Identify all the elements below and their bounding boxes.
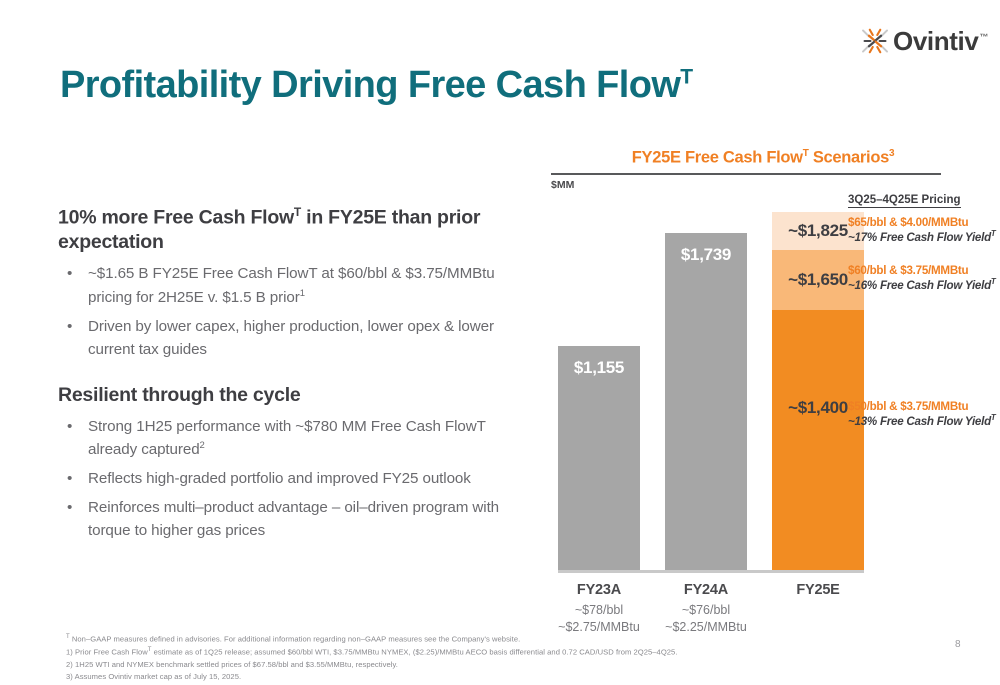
section-heading-1-dagger: T [294, 205, 301, 219]
annotation-yield-1650: ~16% Free Cash Flow YieldT [848, 277, 1000, 292]
footnote-1-rest: estimate as of 1Q25 release; assumed $60… [151, 647, 677, 656]
list-item: • Reinforces multi–product advantage – o… [58, 496, 528, 542]
footnote-2-text: 1H25 WTI and NYMEX benchmark settled pri… [73, 660, 398, 669]
left-content-column: 10% more Free Cash FlowT in FY25E than p… [58, 205, 528, 548]
footnote-3: 3) Assumes Ovintiv market cap as of July… [66, 671, 766, 683]
x-axis-sublabel-fy24a-oil: ~$76/bbl [657, 602, 755, 619]
list-item: • Strong 1H25 performance with ~$780 MM … [58, 415, 528, 461]
bullet-dot-icon: • [67, 467, 72, 490]
bullet-list-2: • Strong 1H25 performance with ~$780 MM … [58, 415, 528, 542]
list-item-pre: Reflects high-graded portfolio and impro… [88, 470, 471, 487]
annotation-yield-1400-dagger: T [991, 413, 996, 422]
x-axis-sublabel-fy23a-oil: ~$78/bbl [550, 602, 648, 619]
annotation-scenario-1825: $65/bbl & $4.00/MMBtu ~17% Free Cash Flo… [848, 216, 1000, 244]
annotation-scenario-1650: $60/bbl & $3.75/MMBtu ~16% Free Cash Flo… [848, 264, 1000, 292]
ovintiv-wordmark: Ovintiv™ [893, 28, 988, 54]
bar-fy23a: $1,155 [558, 346, 640, 570]
list-item-pre: Reinforces multi–product advantage – oil… [88, 499, 499, 539]
chart-baseline-axis [558, 570, 864, 573]
bullet-dot-icon: • [67, 315, 72, 338]
annotation-yield-1650-dagger: T [991, 277, 996, 286]
chart-plot-area: $1,155 $1,739 ~$1,825 ~$1,650 ~$1,400 [540, 148, 1000, 638]
list-item-pre: ~$1.65 B FY25E Free Cash Flow [88, 265, 308, 282]
bullet-dot-icon: • [67, 415, 72, 438]
list-item-dagger: T [308, 265, 317, 282]
list-item-footnote-ref: 1 [300, 287, 305, 298]
footnote-dagger-text: Non–GAAP measures defined in advisories.… [70, 635, 521, 644]
annotation-yield-1400-text: ~13% Free Cash Flow Yield [848, 415, 991, 428]
list-item-footnote-ref: 2 [200, 440, 205, 451]
x-axis-label-fy25e: FY25E [769, 582, 867, 598]
annotation-yield-1825-text: ~17% Free Cash Flow Yield [848, 231, 991, 244]
annotation-yield-1400: ~13% Free Cash Flow YieldT [848, 413, 1000, 428]
x-axis-label-fy23a: FY23A ~$78/bbl ~$2.75/MMBtu [550, 582, 648, 636]
list-item: • Reflects high-graded portfolio and imp… [58, 467, 528, 490]
footnote-2: 2) 1H25 WTI and NYMEX benchmark settled … [66, 659, 766, 671]
trademark-symbol: ™ [979, 32, 988, 42]
ovintiv-wordmark-text: Ovintiv [893, 26, 978, 56]
footnotes: T Non–GAAP measures defined in advisorie… [66, 633, 766, 683]
ovintiv-logo: Ovintiv™ [860, 20, 988, 62]
page-number: 8 [955, 639, 961, 650]
x-axis-category-fy24a: FY24A [657, 582, 755, 598]
footnote-1-marker: 1) [66, 647, 73, 656]
annotation-yield-1650-text: ~16% Free Cash Flow Yield [848, 279, 991, 292]
annotation-yield-1825-dagger: T [991, 229, 996, 238]
bar-segment-fy25e-1400: ~$1,400 [772, 310, 864, 570]
bullet-list-1: • ~$1.65 B FY25E Free Cash FlowT at $60/… [58, 262, 528, 360]
annotation-price-1650: $60/bbl & $3.75/MMBtu [848, 264, 1000, 277]
annotation-price-1400: $50/bbl & $3.75/MMBtu [848, 400, 1000, 413]
x-axis-category-fy23a: FY23A [550, 582, 648, 598]
page-title-text: Profitability Driving Free Cash Flow [60, 64, 680, 106]
list-item: • ~$1.65 B FY25E Free Cash FlowT at $60/… [58, 262, 528, 308]
list-item-mid: already captured [88, 441, 200, 458]
footnote-3-marker: 3) [66, 672, 73, 681]
slide: Ovintiv™ Profitability Driving Free Cash… [0, 0, 1000, 685]
bullet-dot-icon: • [67, 496, 72, 519]
section-heading-1-pre: 10% more Free Cash Flow [58, 207, 294, 229]
section-heading-2: Resilient through the cycle [58, 383, 528, 408]
list-item: • Driven by lower capex, higher producti… [58, 315, 528, 361]
bar-value-fy23a: $1,155 [558, 358, 640, 378]
footnote-2-marker: 2) [66, 660, 73, 669]
list-item-pre: Driven by lower capex, higher production… [88, 318, 494, 358]
x-axis-label-fy24a: FY24A ~$76/bbl ~$2.25/MMBtu [657, 582, 755, 636]
bullet-dot-icon: • [67, 262, 72, 285]
page-title: Profitability Driving Free Cash FlowT [60, 64, 693, 107]
free-cash-flow-chart: FY25E Free Cash FlowT Scenarios3 $MM 3Q2… [540, 148, 1000, 638]
annotation-scenario-1400: $50/bbl & $3.75/MMBtu ~13% Free Cash Flo… [848, 400, 1000, 428]
bar-value-fy24a: $1,739 [665, 245, 747, 265]
annotation-price-1825: $65/bbl & $4.00/MMBtu [848, 216, 1000, 229]
list-item-dagger: T [477, 418, 486, 435]
section-heading-1: 10% more Free Cash FlowT in FY25E than p… [58, 205, 528, 255]
bar-fy24a: $1,739 [665, 233, 747, 570]
footnote-1: 1) Prior Free Cash FlowT estimate as of … [66, 646, 766, 659]
page-title-dagger: T [680, 65, 692, 88]
x-axis-category-fy25e: FY25E [769, 582, 867, 598]
annotation-yield-1825: ~17% Free Cash Flow YieldT [848, 229, 1000, 244]
footnote-1-text: Prior Free Cash Flow [73, 647, 148, 656]
list-item-pre: Strong 1H25 performance with ~$780 MM Fr… [88, 418, 477, 435]
ovintiv-logo-mark [860, 22, 890, 60]
footnote-3-text: Assumes Ovintiv market cap as of July 15… [73, 672, 241, 681]
footnote-dagger: T Non–GAAP measures defined in advisorie… [66, 633, 766, 646]
